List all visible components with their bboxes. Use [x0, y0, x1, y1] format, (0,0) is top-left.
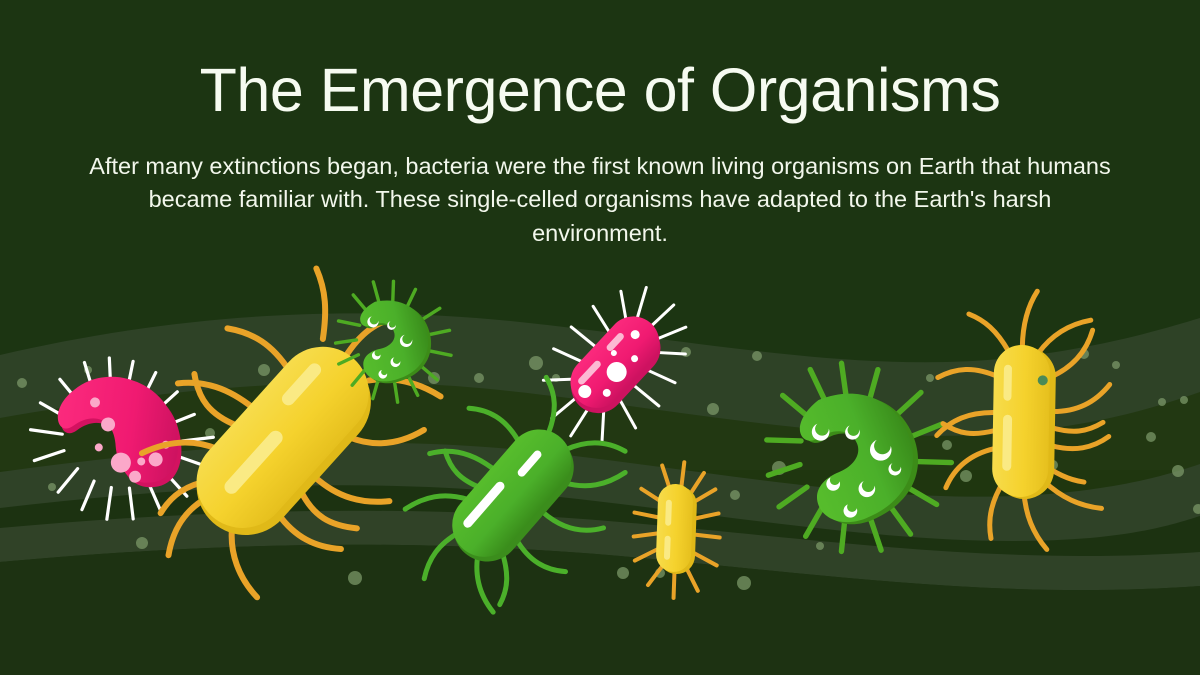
bubble — [136, 537, 148, 549]
bubble — [942, 440, 952, 450]
bubble — [529, 356, 543, 370]
bubble — [1158, 398, 1166, 406]
highlight-group — [1002, 365, 1013, 471]
bubble — [926, 374, 934, 382]
body — [655, 483, 693, 572]
bubble — [707, 403, 719, 415]
bubble — [737, 576, 751, 590]
bubble — [730, 490, 740, 500]
bubble — [960, 470, 972, 482]
illustration-artboard — [0, 0, 1200, 675]
bubble — [474, 373, 484, 383]
bubble — [752, 351, 762, 361]
bubble — [258, 364, 270, 376]
bubble — [48, 483, 56, 491]
bubble — [348, 571, 362, 585]
bubble — [17, 378, 27, 388]
bubble — [1146, 432, 1156, 442]
bubble — [617, 567, 629, 579]
bubble — [1180, 396, 1188, 404]
bubble — [816, 542, 824, 550]
highlight — [665, 500, 672, 526]
slide-canvas: The Emergence of Organisms After many ex… — [0, 0, 1200, 675]
bubble — [1172, 465, 1184, 477]
bubble — [681, 347, 691, 357]
body — [992, 344, 1051, 497]
highlight — [664, 536, 671, 560]
bubble — [1112, 361, 1120, 369]
